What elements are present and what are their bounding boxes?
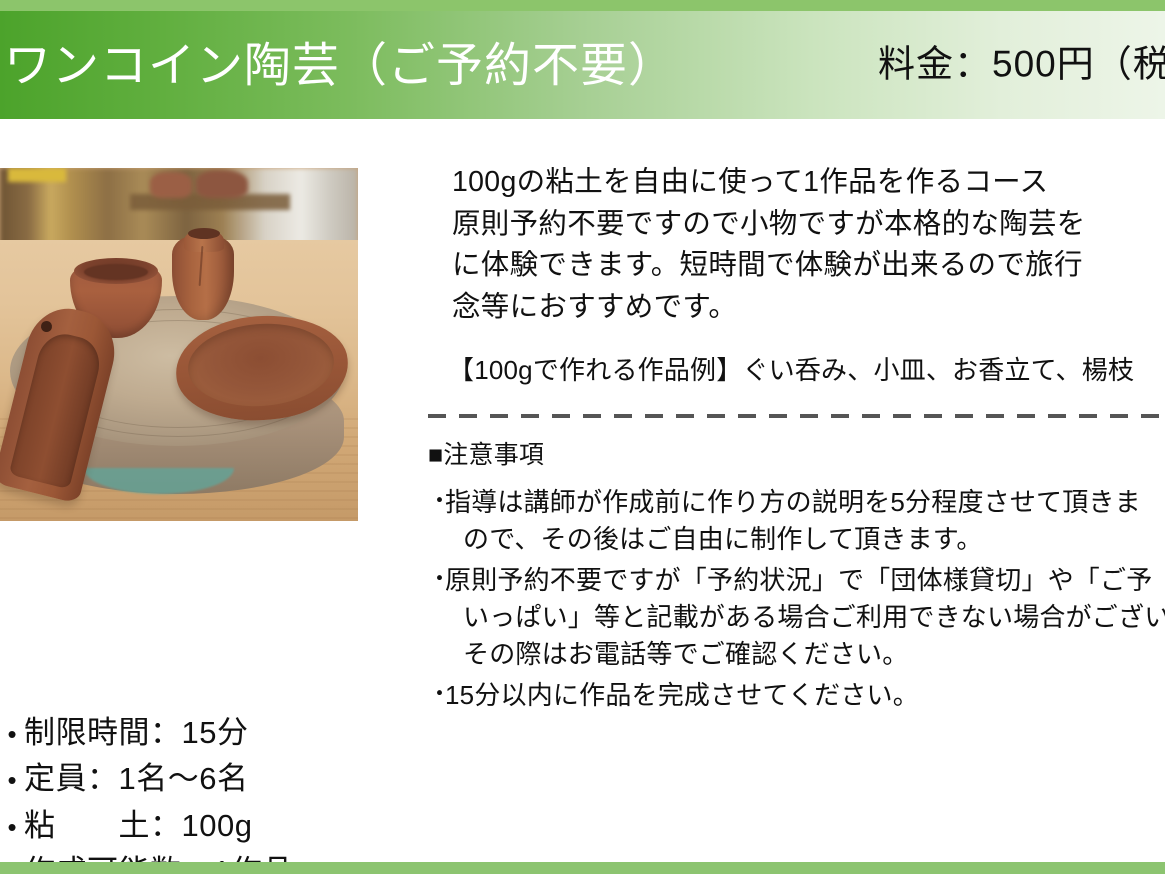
pottery-course-page: ワンコイン陶芸（ご予約不要） 料金：500円（税 (0, 0, 1165, 874)
description-line: に体験できます。短時間で体験が出来るので旅行 (452, 245, 1165, 287)
note-line: ので、その後はご自由に制作して頂きます。 (445, 521, 1165, 558)
course-description: 100gの粘土を自由に使って1作品を作るコース 原則予約不要ですので小物ですが本… (428, 162, 1165, 328)
note-text: 指導は講師が作成前に作り方の説明を5分程度させて頂きま ので、その後はご自由に制… (445, 484, 1165, 558)
course-spec-list: • 制限時間：15分 • 定員：1名〜6名 • 粘 土：100g • 作成可能数… (0, 716, 420, 874)
page-title: ワンコイン陶芸（ご予約不要） (4, 40, 676, 89)
notes-list: ・ 指導は講師が作成前に作り方の説明を5分程度させて頂きま ので、その後はご自由… (428, 484, 1165, 713)
photo-clay-bowl-interior (84, 264, 148, 280)
list-item: ・ 指導は講師が作成前に作り方の説明を5分程度させて頂きま ので、その後はご自由… (428, 484, 1165, 558)
bullet-icon: ・ (428, 484, 445, 517)
notes-heading: ■注意事項 (428, 440, 1165, 470)
list-item: ・ 15分以内に作品を完成させてください。 (428, 677, 1165, 714)
photo-clay-vase-mouth (188, 228, 220, 239)
list-item: • 粘 土：100g (0, 809, 420, 842)
photo-background-yellow-panel (8, 168, 66, 182)
dashed-divider (428, 414, 1165, 418)
photo-background-pot-left (150, 172, 192, 198)
pottery-sample-photo (0, 168, 358, 521)
price-label: 料金：500円（税 (878, 46, 1165, 85)
spec-time-limit: 制限時間：15分 (24, 716, 248, 749)
description-line: 原則予約不要ですので小物ですが本格的な陶芸を (452, 204, 1165, 246)
left-column: • 制限時間：15分 • 定員：1名〜6名 • 粘 土：100g • 作成可能数… (0, 168, 400, 521)
note-line: いっぱい」等と記載がある場合ご利用できない場合がござい (445, 599, 1165, 636)
bottom-accent-bar (0, 862, 1165, 874)
top-accent-strip (0, 0, 1165, 11)
spec-clay-amount: 粘 土：100g (24, 809, 252, 842)
spec-capacity: 定員：1名〜6名 (24, 762, 248, 795)
note-text: 原則予約不要ですが「予約状況」で「団体様貸切」や「ご予 いっぱい」等と記載がある… (445, 562, 1165, 673)
bullet-icon: ・ (428, 562, 445, 595)
bullet-icon: • (0, 721, 24, 747)
note-line: 指導は講師が作成前に作り方の説明を5分程度させて頂きま (445, 484, 1165, 521)
photo-scene (0, 168, 358, 521)
bullet-icon: ・ (428, 677, 445, 710)
example-works-line: 【100gで作れる作品例】ぐい呑み、小皿、お香立て、楊枝 (428, 354, 1165, 388)
page-header-band: ワンコイン陶芸（ご予約不要） 料金：500円（税 (0, 11, 1165, 119)
list-item: • 定員：1名〜6名 (0, 762, 420, 795)
photo-background-pot-right (196, 170, 248, 198)
bullet-icon: • (0, 767, 24, 793)
right-column: 100gの粘土を自由に使って1作品を作るコース 原則予約不要ですので小物ですが本… (428, 162, 1165, 718)
description-line: 100gの粘土を自由に使って1作品を作るコース (452, 162, 1165, 204)
note-line: その際はお電話等でご確認ください。 (445, 636, 1165, 673)
list-item: ・ 原則予約不要ですが「予約状況」で「団体様貸切」や「ご予 いっぱい」等と記載が… (428, 562, 1165, 673)
bullet-icon: • (0, 814, 24, 840)
note-line: 15分以内に作品を完成させてください。 (445, 677, 1165, 714)
note-line: 原則予約不要ですが「予約状況」で「団体様貸切」や「ご予 (445, 562, 1165, 599)
note-text: 15分以内に作品を完成させてください。 (445, 677, 1165, 714)
description-line: 念等におすすめです。 (452, 287, 1165, 329)
list-item: • 制限時間：15分 (0, 716, 420, 749)
